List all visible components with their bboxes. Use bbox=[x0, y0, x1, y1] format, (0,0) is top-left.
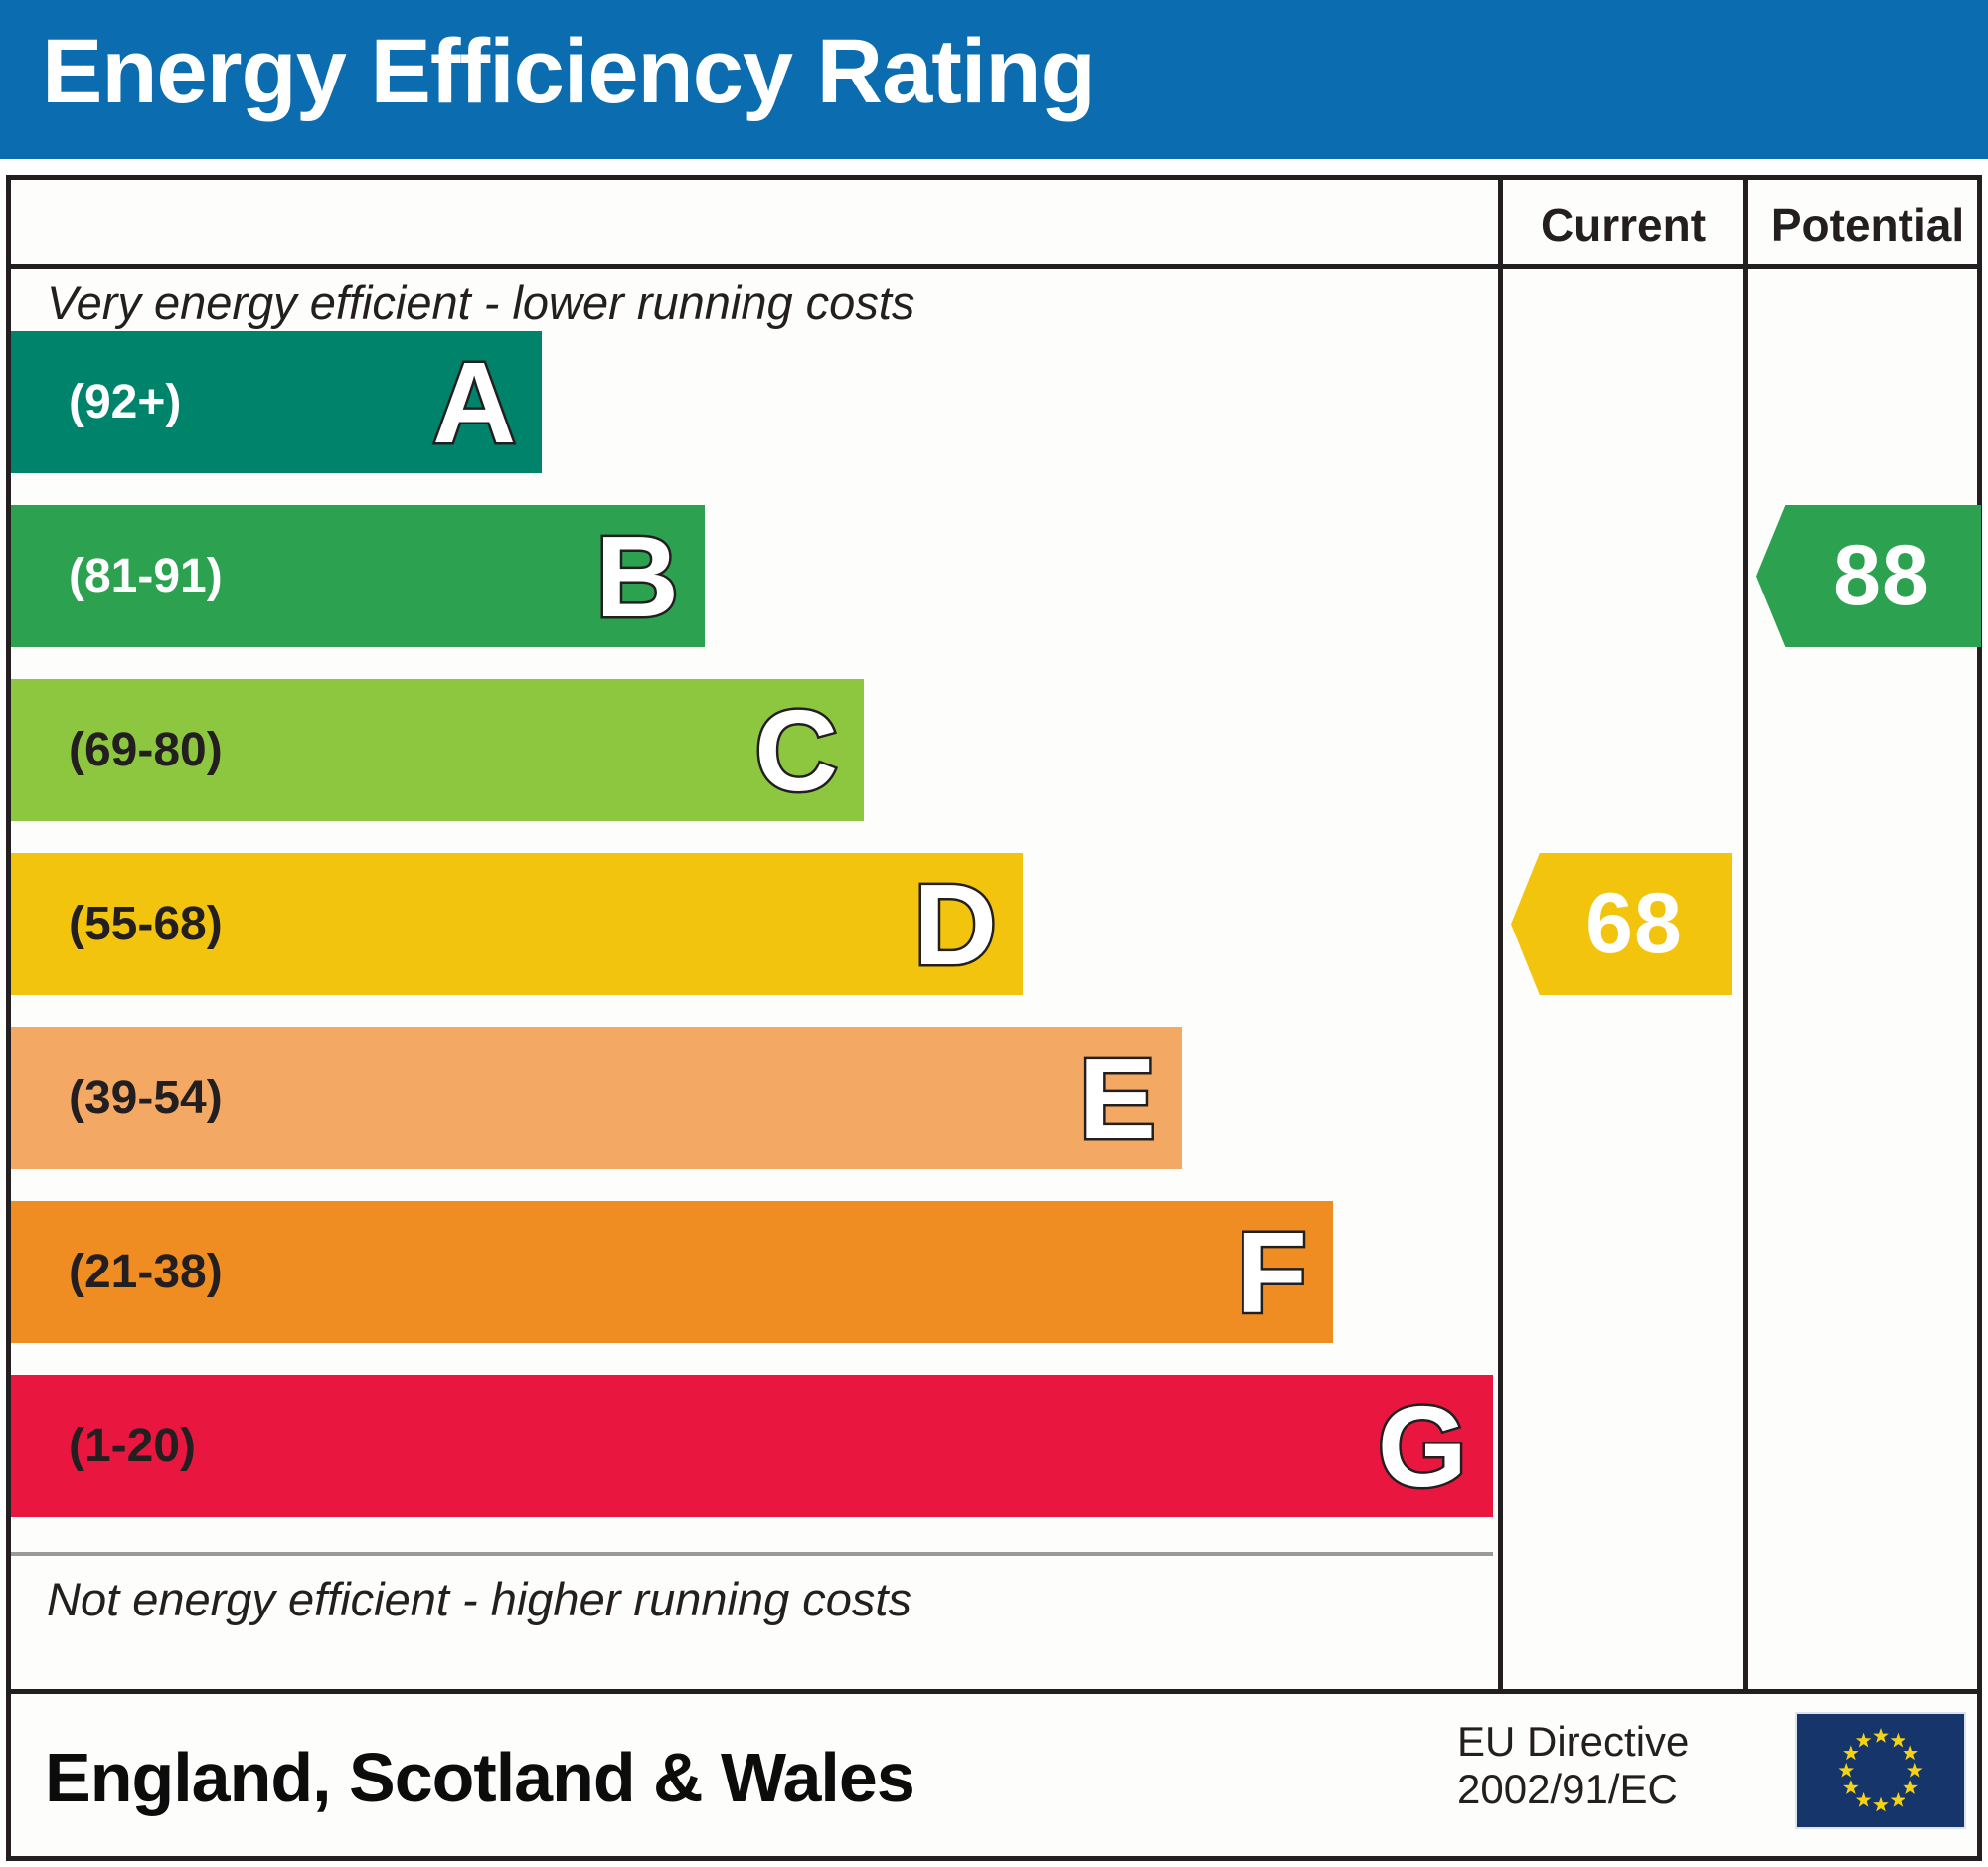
band-f-range: (21-38) bbox=[69, 1249, 223, 1296]
band-e-range: (39-54) bbox=[69, 1075, 223, 1122]
column-header-potential: Potential bbox=[1748, 180, 1987, 269]
band-g: (1-20) G bbox=[11, 1375, 1493, 1517]
potential-rating-badge: 88 bbox=[1756, 505, 1981, 647]
rating-table: Current Potential Very energy efficient … bbox=[6, 175, 1982, 1694]
band-b: (81-91) B bbox=[11, 505, 705, 647]
band-d-letter: D bbox=[913, 867, 997, 982]
column-header-current: Current bbox=[1503, 180, 1743, 269]
band-f: (21-38) F bbox=[11, 1201, 1333, 1343]
caption-very-efficient: Very energy efficient - lower running co… bbox=[47, 275, 914, 330]
band-b-letter: B bbox=[595, 519, 679, 634]
energy-efficiency-rating-chart: Energy Efficiency Rating Current Potenti… bbox=[0, 0, 1988, 1867]
band-c-letter: C bbox=[754, 693, 838, 808]
band-e: (39-54) E bbox=[11, 1027, 1182, 1169]
region-label: England, Scotland & Wales bbox=[45, 1738, 914, 1817]
band-d-range: (55-68) bbox=[69, 901, 223, 948]
band-d: (55-68) D bbox=[11, 853, 1023, 995]
band-c: (69-80) C bbox=[11, 679, 864, 821]
band-b-range: (81-91) bbox=[69, 553, 223, 600]
page-title: Energy Efficiency Rating bbox=[42, 26, 1095, 117]
chart-header-banner: Energy Efficiency Rating bbox=[0, 0, 1988, 159]
band-g-range: (1-20) bbox=[69, 1423, 196, 1470]
band-a: (92+) A bbox=[11, 331, 542, 473]
bands-bottom-rule bbox=[11, 1552, 1493, 1556]
chart-footer: England, Scotland & Wales EU Directive 2… bbox=[6, 1694, 1982, 1861]
eu-directive-line-2: 2002/91/EC bbox=[1457, 1766, 1689, 1813]
band-f-letter: F bbox=[1237, 1215, 1307, 1330]
column-divider-current bbox=[1498, 180, 1503, 1689]
eu-directive-text: EU Directive 2002/91/EC bbox=[1457, 1718, 1689, 1813]
band-a-letter: A bbox=[432, 345, 516, 460]
column-divider-potential bbox=[1743, 180, 1748, 1689]
eu-directive-line-1: EU Directive bbox=[1457, 1718, 1689, 1766]
band-a-range: (92+) bbox=[69, 379, 181, 426]
caption-not-efficient: Not energy efficient - higher running co… bbox=[47, 1572, 911, 1626]
band-g-letter: G bbox=[1378, 1389, 1467, 1504]
band-c-range: (69-80) bbox=[69, 727, 223, 774]
eu-flag-icon bbox=[1795, 1712, 1966, 1829]
current-rating-badge: 68 bbox=[1511, 853, 1732, 995]
band-e-letter: E bbox=[1079, 1041, 1156, 1156]
rating-bands: (92+) A (81-91) B (69-80) C (55-68) D (3… bbox=[11, 331, 1493, 1549]
